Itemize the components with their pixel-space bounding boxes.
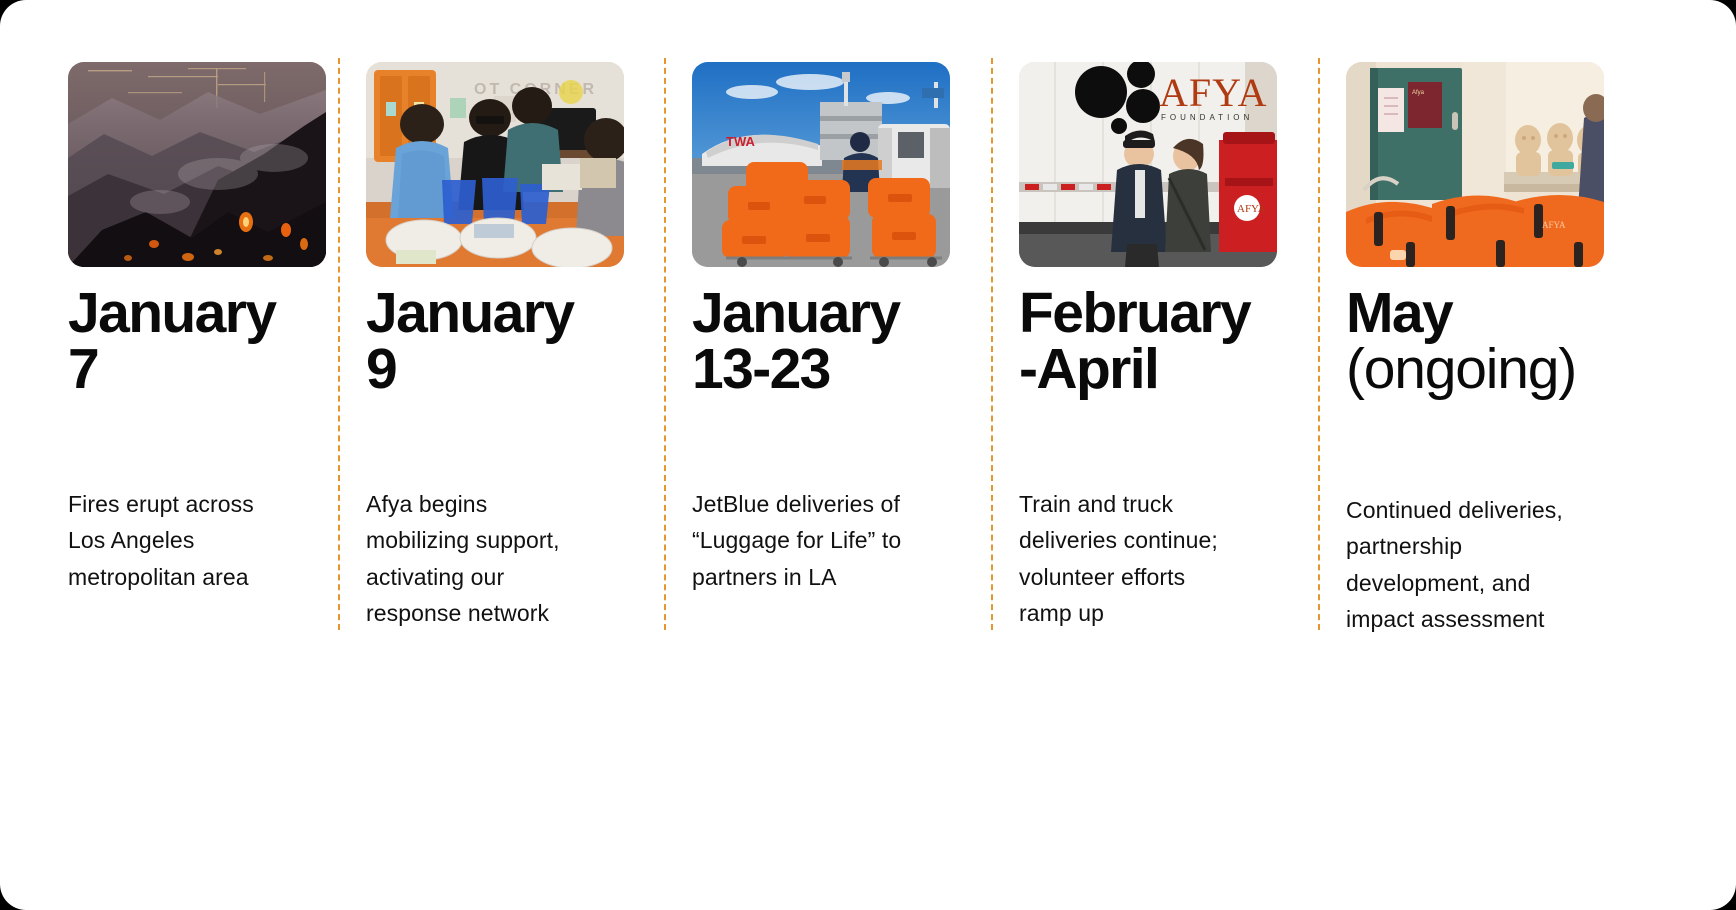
timeline-heading: January 13-23 [692,285,977,398]
column-divider [1318,58,1320,630]
timeline-column-3: TWA [664,62,991,702]
timeline-body-text: Train and truck deliveries continue; vol… [1019,486,1281,631]
timeline-heading: May (ongoing) [1346,285,1644,398]
svg-text:AFYA: AFYA [1237,203,1266,215]
svg-text:AFYA: AFYA [1542,220,1566,230]
timeline-column-2: OT CORNER [338,62,664,702]
timeline-heading: January 9 [366,285,650,398]
jetblue-airport-duffels-photo: TWA [692,62,950,267]
svg-text:Afya: Afya [1412,90,1425,96]
column-divider [664,58,666,630]
timeline-column-1: January 7 Fires erupt across Los Angeles… [0,62,338,702]
volunteers-packing-supplies-photo: OT CORNER [366,62,624,267]
timeline-heading: January 7 [68,285,324,398]
wildfire-hillside-photo [68,62,326,267]
column-divider [991,58,993,630]
heading-bold-part: May [1346,281,1452,345]
timeline-page: January 7 Fires erupt across Los Angeles… [0,0,1736,910]
svg-text:TWA: TWA [726,134,755,149]
clinic-orange-bags-delivery-photo: Afya [1346,62,1604,267]
column-divider [338,58,340,630]
timeline-body-text: Afya begins mobilizing support, activati… [366,486,628,631]
timeline-body-text: Fires erupt across Los Angeles metropoli… [68,486,330,595]
afya-truck-staff-photo: AFYA FOUNDATION [1019,62,1277,267]
heading-light-part: (ongoing) [1346,337,1576,401]
timeline-body-text: Continued deliveries, partnership develo… [1346,492,1622,637]
timeline-body-text: JetBlue deliveries of “Luggage for Life”… [692,486,954,595]
timeline-container: January 7 Fires erupt across Los Angeles… [0,0,1736,910]
svg-text:FOUNDATION: FOUNDATION [1161,113,1253,122]
svg-text:AFYA: AFYA [1159,70,1267,115]
timeline-column-4: AFYA FOUNDATION [991,62,1318,702]
timeline-heading: February -April [1019,285,1304,398]
timeline-column-5: Afya [1318,62,1658,702]
